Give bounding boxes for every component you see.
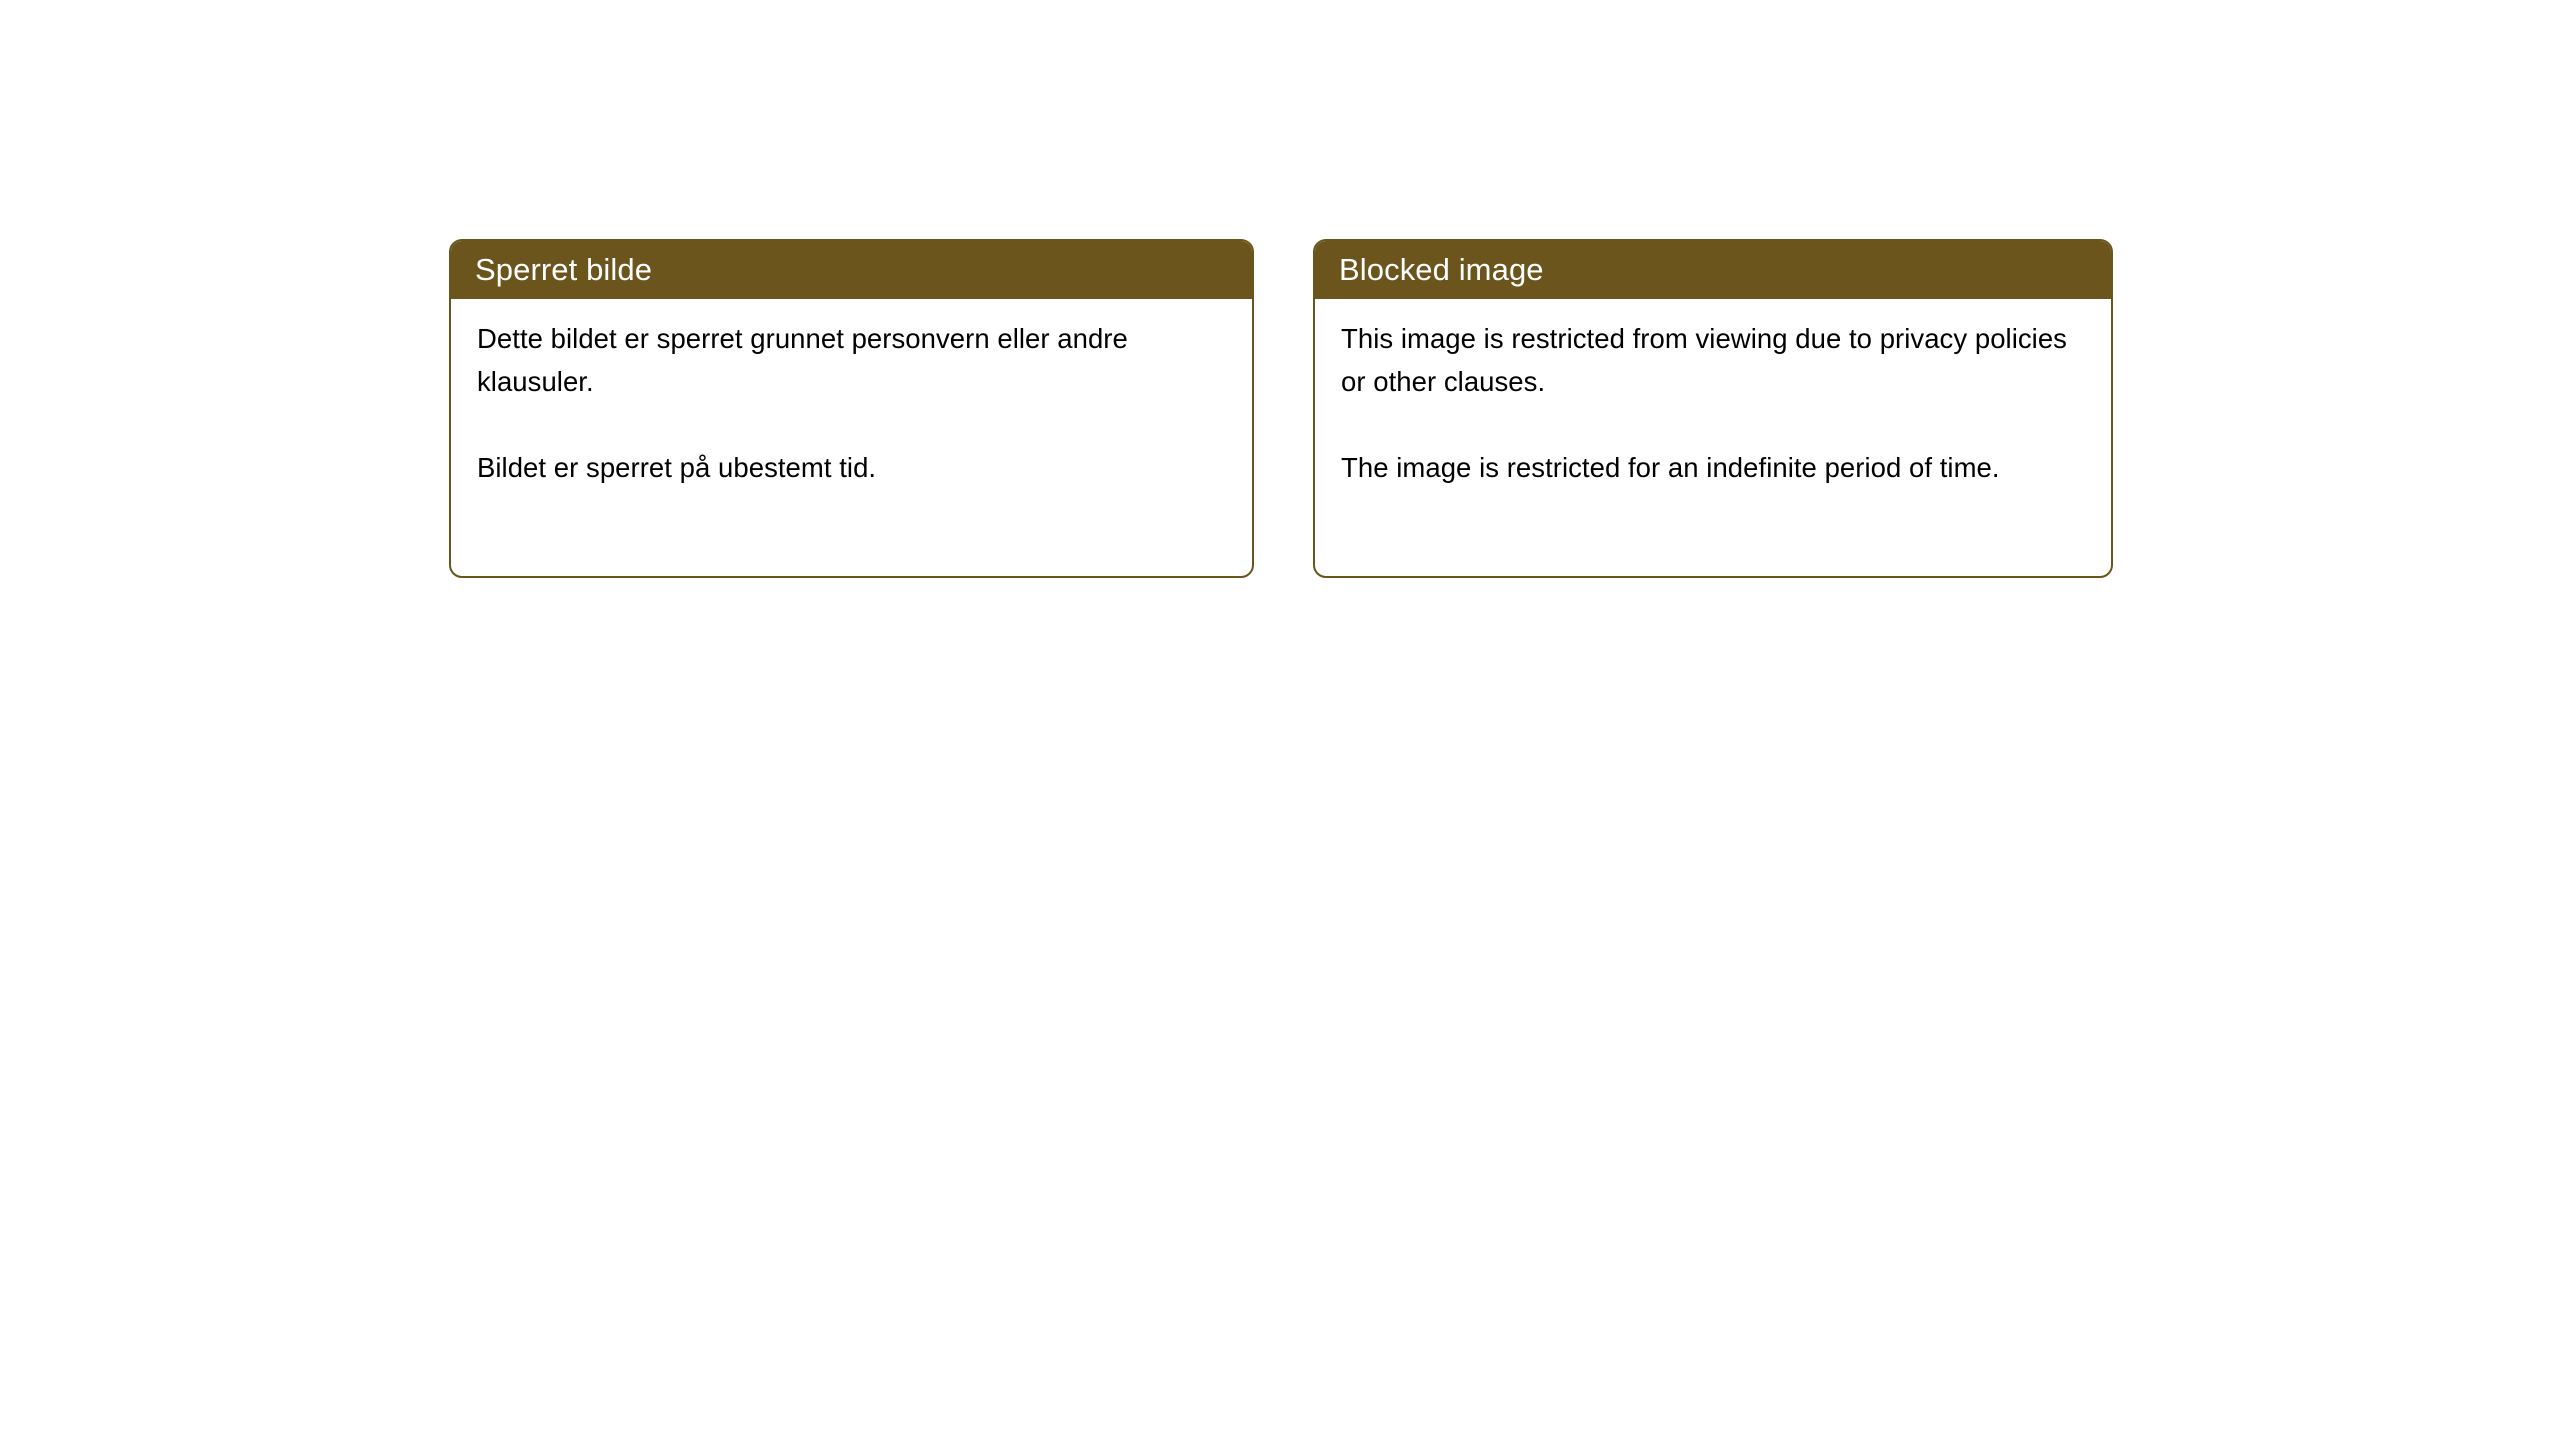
page-canvas: Sperret bilde Dette bildet er sperret gr… (0, 0, 2560, 1440)
card-body-norwegian: Dette bildet er sperret grunnet personve… (451, 299, 1252, 489)
blocked-image-notice-english: Blocked image This image is restricted f… (1313, 239, 2113, 578)
card-title-english: Blocked image (1339, 254, 1544, 285)
card-paragraph-duration-norwegian: Bildet er sperret på ubestemt tid. (477, 446, 1228, 489)
card-body-english: This image is restricted from viewing du… (1315, 299, 2111, 489)
card-title-norwegian: Sperret bilde (475, 254, 652, 285)
card-paragraph-reason-norwegian: Dette bildet er sperret grunnet personve… (477, 317, 1228, 403)
card-header-norwegian: Sperret bilde (449, 239, 1254, 299)
card-paragraph-duration-english: The image is restricted for an indefinit… (1341, 446, 2087, 489)
blocked-image-notice-norwegian: Sperret bilde Dette bildet er sperret gr… (449, 239, 1254, 578)
card-paragraph-reason-english: This image is restricted from viewing du… (1341, 317, 2087, 403)
card-header-english: Blocked image (1313, 239, 2113, 299)
